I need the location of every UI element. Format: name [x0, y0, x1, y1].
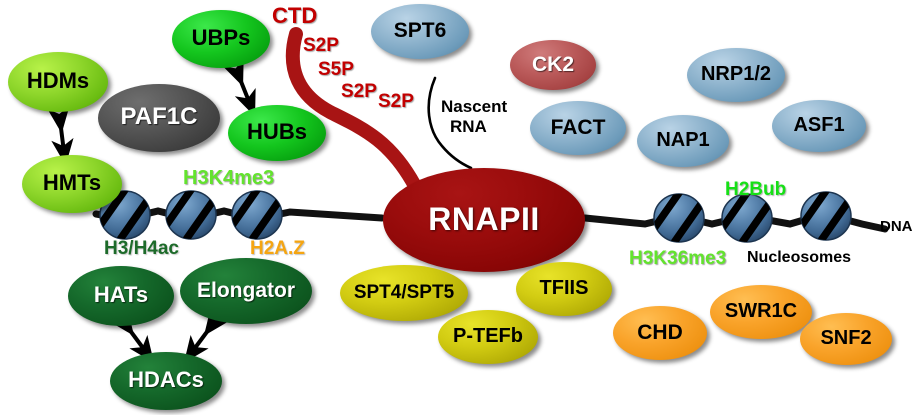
- factor-ck2[interactable]: CK2: [510, 40, 596, 90]
- dna-label: DNA: [880, 219, 913, 235]
- factor-ck2-label: CK2: [532, 54, 574, 75]
- factor-chd-label: CHD: [637, 322, 683, 343]
- factor-asf1-label: ASF1: [793, 115, 844, 135]
- factor-snf2[interactable]: SNF2: [800, 313, 892, 365]
- ctd-mark-s2p-2: S2P: [341, 82, 377, 102]
- factor-nap1-label: NAP1: [656, 130, 709, 150]
- factor-ubps[interactable]: UBPs: [172, 10, 270, 68]
- nucleosome-right-1: [653, 190, 704, 244]
- factor-nrp12[interactable]: NRP1/2: [687, 48, 785, 102]
- factor-chd[interactable]: CHD: [613, 306, 707, 360]
- ctd-mark-s5p: S5P: [318, 60, 354, 80]
- mark-h3k4me3: H3K4me3: [183, 168, 274, 189]
- nucleosome-right-3: [800, 188, 851, 242]
- factor-spt4-spt5[interactable]: SPT4/SPT5: [340, 265, 468, 321]
- factor-hdms-label: HDMs: [27, 70, 89, 92]
- factor-swr1c[interactable]: SWR1C: [710, 285, 812, 339]
- factor-paf1c-label: PAF1C: [121, 105, 198, 129]
- factor-paf1c[interactable]: PAF1C: [98, 84, 220, 152]
- ctd-mark-s2p-1: S2P: [303, 36, 339, 56]
- arrow-ubps-hubs: [238, 74, 250, 104]
- factor-hubs[interactable]: HUBs: [228, 105, 326, 161]
- rnapii-label: RNAPII: [428, 203, 539, 235]
- factor-hats[interactable]: HATs: [68, 266, 174, 326]
- factor-spt6[interactable]: SPT6: [371, 4, 469, 59]
- mark-h2bub: H2Bub: [725, 180, 786, 200]
- factor-hmts[interactable]: HMTs: [22, 155, 122, 213]
- factor-spt6-label: SPT6: [394, 20, 447, 41]
- rnapii-polymerase[interactable]: RNAPII: [383, 168, 585, 272]
- factor-tfiis[interactable]: TFIIS: [516, 262, 612, 316]
- factor-hdacs[interactable]: HDACs: [110, 352, 222, 410]
- mark-h2az: H2A.Z: [250, 239, 305, 259]
- nucleosome-left-2: [165, 187, 216, 241]
- nascent-rna-label-line1: Nascent: [441, 98, 507, 116]
- factor-elongator[interactable]: Elongator: [180, 258, 312, 324]
- factor-ptefb[interactable]: P-TEFb: [438, 310, 538, 364]
- ctd-label: CTD: [272, 4, 317, 27]
- nucleosomes-label: Nucleosomes: [747, 250, 851, 267]
- nucleosome-left-3: [231, 187, 282, 241]
- factor-swr1c-label: SWR1C: [725, 301, 797, 321]
- factor-nrp12-label: NRP1/2: [701, 64, 771, 84]
- nascent-rna-label-line2: RNA: [450, 118, 487, 136]
- factor-elongator-label: Elongator: [197, 280, 295, 301]
- mark-h3k36me3: H3K36me3: [629, 249, 726, 269]
- factor-tfiis-label: TFIIS: [540, 278, 589, 298]
- factor-fact[interactable]: FACT: [530, 101, 626, 155]
- factor-ptefb-label: P-TEFb: [453, 326, 523, 346]
- factor-hats-label: HATs: [94, 284, 148, 306]
- arrow-elongator-hdacs: [192, 325, 212, 352]
- arrow-hdms-hmts: [60, 120, 64, 152]
- factor-hdacs-label: HDACs: [128, 369, 204, 391]
- factor-ubps-label: UBPs: [192, 27, 251, 49]
- factor-nap1[interactable]: NAP1: [637, 115, 729, 167]
- diagram-canvas: HDMs HMTs PAF1C UBPs HUBs SPT6 CK2 FACT …: [0, 0, 923, 415]
- factor-hdms[interactable]: HDMs: [8, 52, 108, 112]
- arrow-hats-hdacs: [126, 325, 146, 352]
- factor-snf2-label: SNF2: [820, 328, 871, 348]
- ctd-mark-s2p-3: S2P: [378, 92, 414, 112]
- mark-h3h4ac: H3/H4ac: [104, 239, 179, 259]
- factor-spt4-spt5-label: SPT4/SPT5: [354, 283, 454, 302]
- factor-hubs-label: HUBs: [247, 121, 307, 143]
- factor-hmts-label: HMTs: [43, 172, 101, 194]
- factor-fact-label: FACT: [551, 117, 606, 138]
- factor-asf1[interactable]: ASF1: [772, 100, 866, 152]
